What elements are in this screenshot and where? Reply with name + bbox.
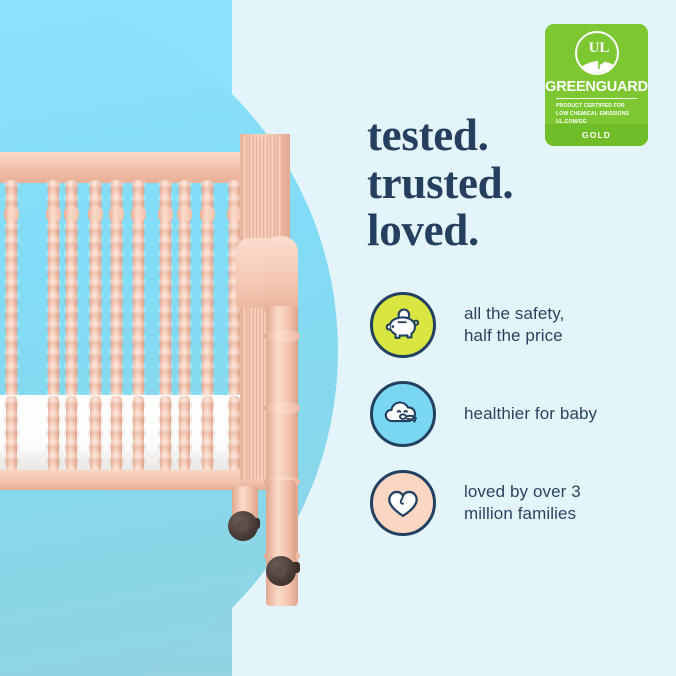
crib-illustration: [0, 0, 330, 676]
feature-health-line-1: healthier for baby: [464, 403, 597, 425]
crib-leg-rear: [266, 480, 296, 566]
feature-list: all the safety, half the price healthier…: [370, 292, 670, 559]
badge-divider: [556, 98, 637, 99]
feature-text-safety: all the safety, half the price: [464, 303, 564, 348]
headline-line-1: tested.: [367, 112, 657, 160]
badge-brand-name: GREENGUARD: [545, 79, 648, 95]
feature-loved-line-1: loved by over 3: [464, 481, 581, 503]
badge-fine-line-1: PRODUCT CERTIFIED FOR: [556, 102, 642, 110]
feature-item-safety: all the safety, half the price: [370, 292, 670, 358]
feature-safety-line-1: all the safety,: [464, 303, 564, 325]
crib-corner-post-cap: [264, 236, 298, 314]
page-title: tested. trusted. loved.: [367, 112, 657, 255]
heart-icon: [370, 470, 436, 536]
feature-safety-line-2: half the price: [464, 325, 564, 347]
crib-end-panel: [236, 120, 298, 480]
crib-spindles-lower: [0, 396, 265, 474]
piggy-bank-icon: [370, 292, 436, 358]
crib-caster-rear: [266, 556, 296, 586]
headline-line-2: trusted.: [367, 160, 657, 208]
ul-mark-icon: UL: [575, 31, 619, 75]
feature-text-loved: loved by over 3 million families: [464, 481, 581, 526]
blowing-cloud-icon: [370, 381, 436, 447]
feature-text-health: healthier for baby: [464, 403, 597, 425]
crib-caster-front: [228, 511, 258, 541]
headline-line-3: loved.: [367, 207, 657, 255]
feature-item-health: healthier for baby: [370, 381, 670, 447]
product-hero: [0, 0, 360, 676]
feature-loved-line-2: million families: [464, 503, 581, 525]
promo-graphic: UL GREENGUARD PRODUCT CERTIFIED FOR LOW …: [0, 0, 676, 676]
feature-item-loved: loved by over 3 million families: [370, 470, 670, 536]
